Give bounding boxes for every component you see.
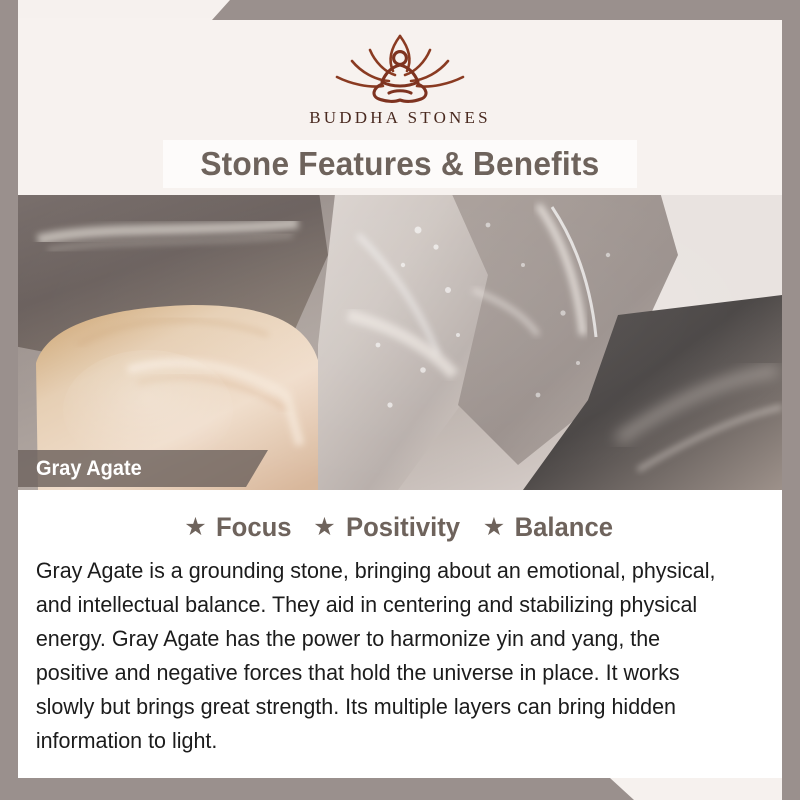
benefit-label: Positivity — [346, 512, 460, 543]
page-title: Stone Features & Benefits — [200, 145, 599, 183]
benefit-item-balance: ★ Balance — [483, 512, 616, 543]
lotus-meditation-figure-icon — [325, 28, 475, 106]
brand-name: BUDDHA STONES — [309, 108, 491, 128]
star-icon: ★ — [313, 515, 335, 540]
infographic-poster: BUDDHA STONES Stone Features & Benefits — [0, 0, 800, 800]
stone-photo — [18, 195, 782, 490]
frame-right-bar — [782, 0, 800, 800]
benefits-list: ★ Focus ★ Positivity ★ Balance — [32, 512, 768, 543]
star-icon: ★ — [184, 515, 206, 540]
stone-description: Gray Agate is a grounding stone, bringin… — [32, 554, 735, 758]
poster-card: BUDDHA STONES Stone Features & Benefits — [18, 18, 782, 778]
star-icon: ★ — [483, 515, 505, 540]
stone-name-ribbon: Gray Agate — [18, 450, 268, 487]
description-section: ★ Focus ★ Positivity ★ Balance Gray Agat… — [18, 490, 782, 778]
title-banner: Stone Features & Benefits — [163, 140, 637, 188]
benefit-item-focus: ★ Focus — [184, 512, 293, 543]
stone-name: Gray Agate — [36, 457, 142, 481]
benefit-item-positivity: ★ Positivity — [313, 512, 462, 543]
frame-top-bar — [0, 0, 800, 20]
benefit-label: Focus — [216, 512, 292, 543]
frame-left-bar — [0, 0, 18, 800]
frame-bottom-bar — [0, 778, 800, 800]
benefit-label: Balance — [515, 512, 613, 543]
brand-header: BUDDHA STONES — [18, 18, 782, 140]
